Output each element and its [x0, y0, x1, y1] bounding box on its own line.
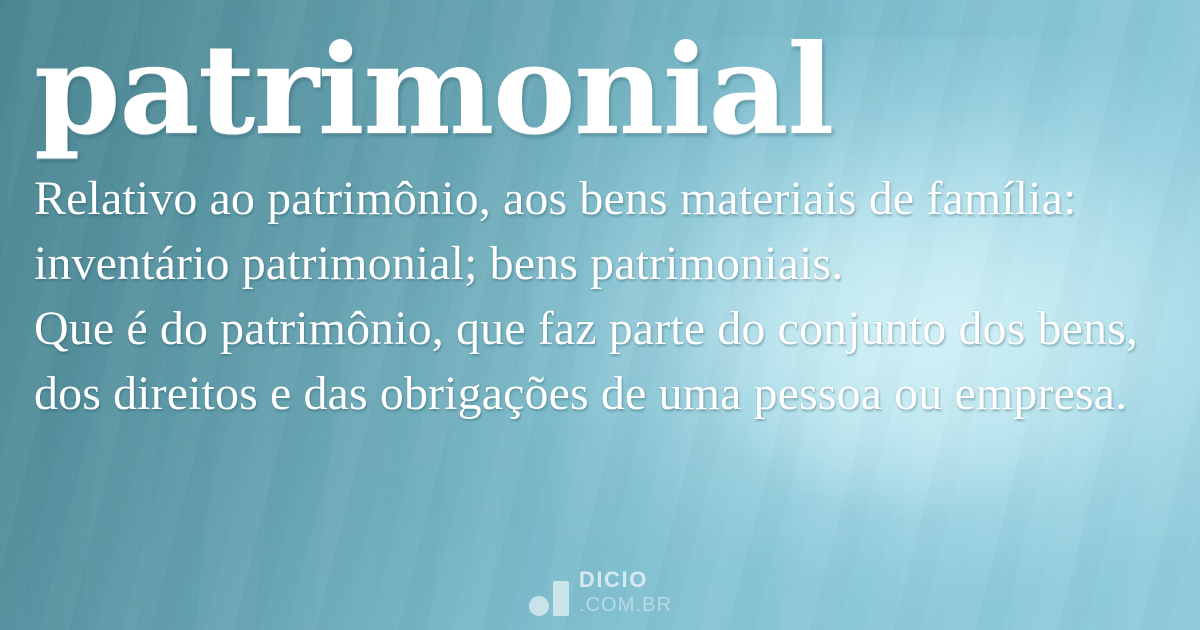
dicio-logo-name: DICIO: [579, 569, 672, 591]
definition-card: patrimonial Relativo ao patrimônio, aos …: [0, 0, 1200, 630]
bar-mark-icon: [553, 581, 569, 616]
circle-mark-icon: [529, 596, 549, 616]
dicio-logo-tld: .COM.BR: [579, 595, 672, 615]
dicio-logo-text: DICIO .COM.BR: [579, 569, 672, 616]
headword-title: patrimonial: [34, 18, 833, 164]
dicio-logo-mark: [528, 580, 570, 616]
definition-text: Que é do patrimônio, que faz parte do co…: [34, 296, 1170, 426]
card-content: patrimonial Relativo ao patrimônio, aos …: [0, 0, 1200, 630]
definition-text: Relativo ao patrimônio, aos bens materia…: [34, 166, 1170, 296]
dicio-logo: DICIO .COM.BR: [0, 569, 1200, 616]
definition-list: Relativo ao patrimônio, aos bens materia…: [34, 166, 1170, 426]
